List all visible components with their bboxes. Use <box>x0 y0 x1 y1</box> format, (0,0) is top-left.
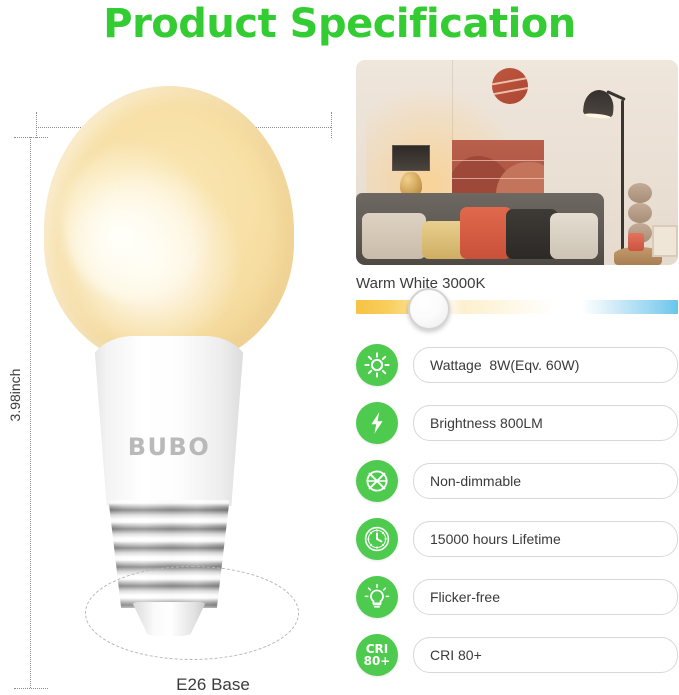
color-temperature-handle[interactable] <box>408 288 450 330</box>
bulb-diagram-panel: 2.34inch 3.98inch BUBO E26 Base <box>0 52 345 676</box>
spec-row-lifetime: 15000 hours Lifetime <box>356 510 678 568</box>
base-highlight-ellipse <box>85 566 299 660</box>
decor-ring <box>628 203 652 223</box>
spec-list: Wattage 8W(Eqv. 60W) Brightness 800LM No… <box>356 336 678 684</box>
living-room-photo <box>356 60 678 265</box>
sofa-pillow <box>362 213 426 259</box>
spec-row-cri: CRI 80+ CRI 80+ <box>356 626 678 684</box>
height-dimension-line <box>30 137 31 688</box>
height-dimension-label: 3.98inch <box>7 360 23 430</box>
color-temperature-track[interactable] <box>356 300 678 314</box>
clock-icon <box>356 518 398 560</box>
page-title: Product Specification <box>0 0 679 48</box>
color-temperature-slider[interactable] <box>356 300 678 314</box>
light-bulb-image: BUBO E26 Base <box>44 86 294 646</box>
landscape-wall-art <box>452 140 544 195</box>
bulb-glass-dome <box>44 86 294 366</box>
sun-icon <box>356 344 398 386</box>
lightning-icon <box>356 402 398 444</box>
spec-text-lifetime: 15000 hours Lifetime <box>413 521 678 557</box>
art-contour-line <box>452 160 544 161</box>
art-contour-line <box>452 178 544 179</box>
decor-ring <box>628 183 652 203</box>
cri-badge-bottom: 80+ <box>364 655 391 667</box>
spec-text-brightness: Brightness 800LM <box>413 405 678 441</box>
base-type-label: E26 Base <box>88 675 338 695</box>
spec-text-flicker: Flicker-free <box>413 579 678 615</box>
height-dimension-tick-top <box>14 137 48 138</box>
bulb-brand-text: BUBO <box>87 433 251 461</box>
no-dimmer-icon <box>356 460 398 502</box>
sofa-pillow <box>460 207 512 259</box>
bulb-glow-highlight <box>62 142 212 302</box>
circular-sun-wall-art <box>492 68 528 104</box>
height-dimension-tick-bottom <box>14 688 48 689</box>
spec-row-flicker: Flicker-free <box>356 568 678 626</box>
specification-panel: Warm White 3000K Wattage 8W(Eqv. 60W) <box>356 60 678 676</box>
spec-text-wattage: Wattage 8W(Eqv. 60W) <box>413 347 678 383</box>
color-temperature-label: Warm White 3000K <box>356 275 678 292</box>
table-lamp-shade <box>392 145 430 171</box>
spec-text-cri: CRI 80+ <box>413 637 678 673</box>
spec-row-brightness: Brightness 800LM <box>356 394 678 452</box>
bulb-housing <box>87 336 251 506</box>
floor-lamp-pole <box>621 100 624 250</box>
spec-row-wattage: Wattage 8W(Eqv. 60W) <box>356 336 678 394</box>
candle <box>628 233 644 251</box>
spec-text-dimmable: Non-dimmable <box>413 463 678 499</box>
width-dimension-tick-right <box>331 112 332 138</box>
spec-row-dimmable: Non-dimmable <box>356 452 678 510</box>
cri-badge-icon: CRI 80+ <box>356 634 398 676</box>
sofa-pillow <box>550 213 598 259</box>
picture-frame <box>652 225 678 257</box>
lightbulb-icon <box>356 576 398 618</box>
width-dimension-tick-left <box>36 112 37 138</box>
